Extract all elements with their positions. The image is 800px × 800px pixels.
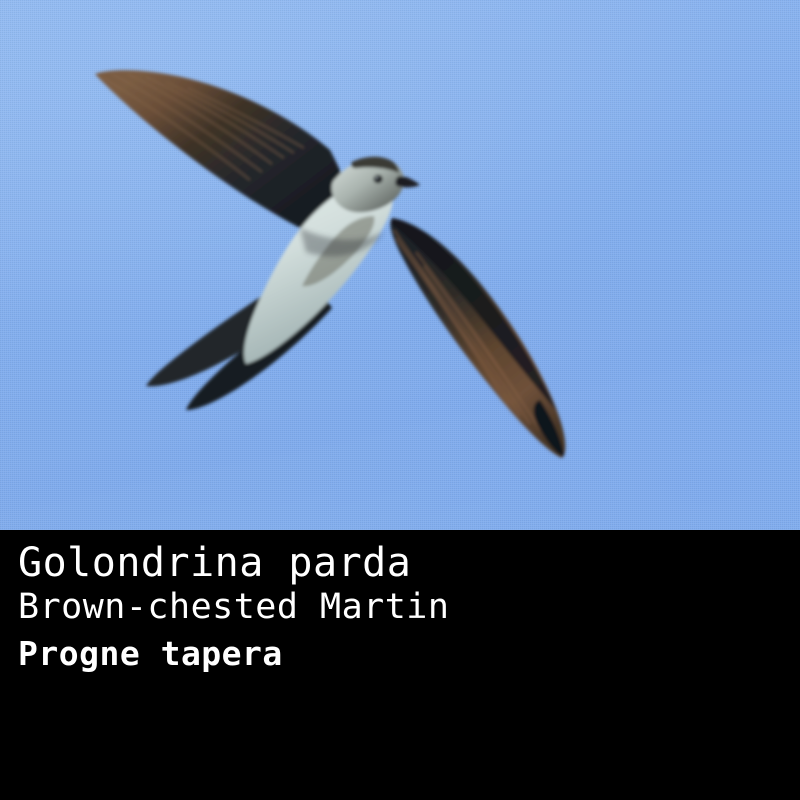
photograph — [0, 0, 800, 530]
species-names: Golondrina parda Brown-chested Martin Pr… — [18, 540, 618, 676]
info-panel: Golondrina parda Brown-chested Martin Pr… — [0, 530, 800, 800]
bird-photo-card: Golondrina parda Brown-chested Martin Pr… — [0, 0, 800, 800]
species-common-name-en: Brown-chested Martin — [18, 586, 618, 628]
bird-illustration — [0, 0, 800, 530]
species-common-name-es: Golondrina parda — [18, 540, 618, 586]
species-scientific-name: Progne tapera — [18, 632, 618, 676]
